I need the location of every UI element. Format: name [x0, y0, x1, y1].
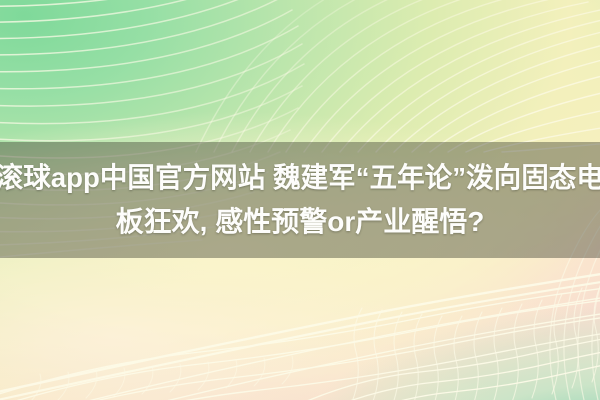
headline-line-1: 滚球app中国官方网站 魏建军“五年论”泼向固态电	[0, 157, 600, 199]
headline-line-2: 板狂欢, 感性预警or产业醒悟?	[116, 201, 485, 243]
decorative-banner: 滚球app中国官方网站 魏建军“五年论”泼向固态电 板狂欢, 感性预警or产业醒…	[0, 0, 600, 400]
headline: 滚球app中国官方网站 魏建军“五年论”泼向固态电 板狂欢, 感性预警or产业醒…	[0, 142, 600, 258]
